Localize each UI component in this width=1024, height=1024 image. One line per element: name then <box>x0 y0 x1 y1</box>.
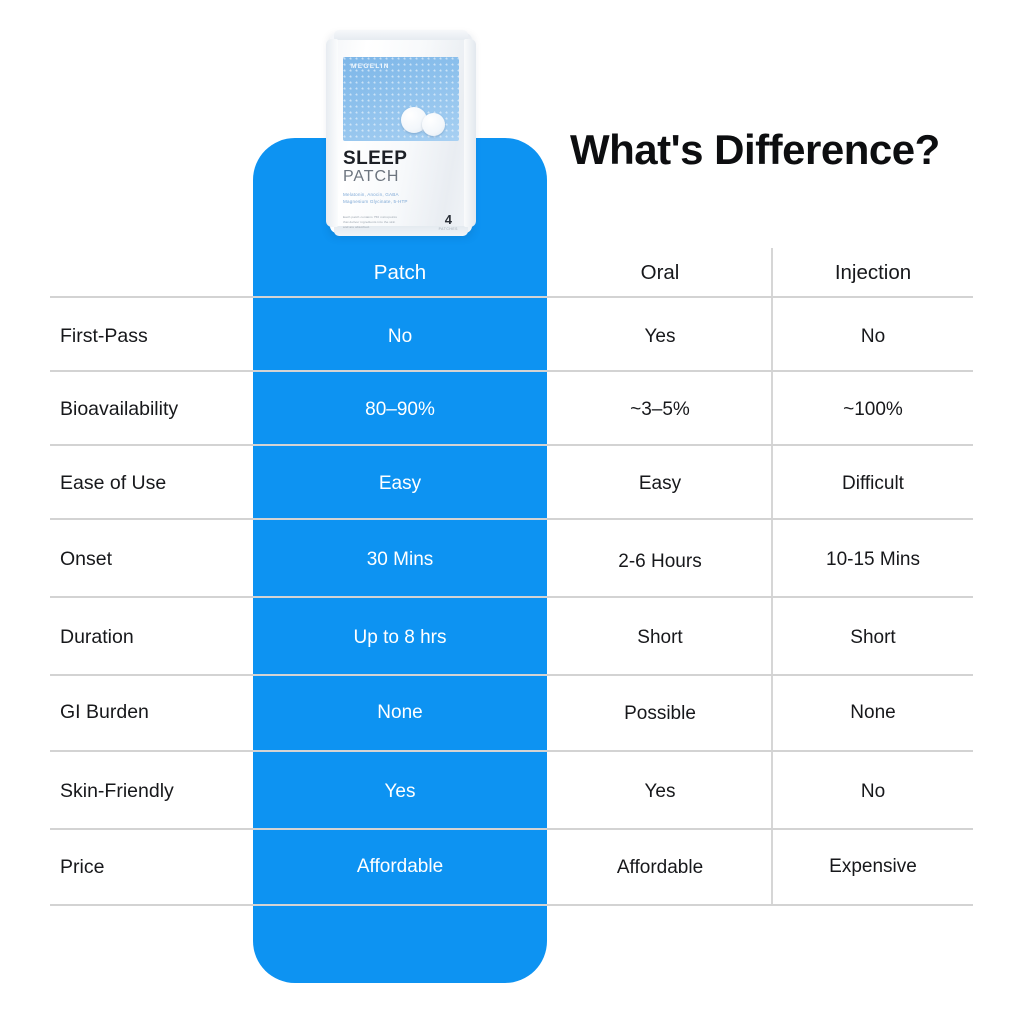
cell-oral: 2-6 Hours <box>549 552 771 571</box>
cell-oral: Yes <box>549 782 771 801</box>
cell-oral: ~3–5% <box>549 400 771 419</box>
package-count-badge: 4 PATCHES <box>439 213 458 231</box>
package-count-label: PATCHES <box>439 227 458 231</box>
row-label: Onset <box>60 550 250 570</box>
comparison-table: Patch Oral Injection First-Pass No Yes N… <box>0 0 1024 1024</box>
row-divider <box>50 370 973 372</box>
cell-injection: Difficult <box>773 474 973 493</box>
row-divider <box>50 674 973 676</box>
row-label: Bioavailability <box>60 400 250 420</box>
cell-oral: Short <box>549 628 771 647</box>
row-divider <box>50 296 973 298</box>
cell-injection: No <box>773 327 973 346</box>
row-divider <box>50 828 973 830</box>
cell-injection: ~100% <box>773 400 973 419</box>
package-window-graphic: MEGELIN <box>343 57 459 141</box>
package-product-subtitle: PATCH <box>343 169 399 185</box>
package-product-name: SLEEP <box>343 149 407 168</box>
cell-patch: None <box>253 703 547 722</box>
cell-injection: No <box>773 782 973 801</box>
package-seal-top <box>334 30 468 40</box>
row-label: Duration <box>60 628 250 648</box>
row-divider <box>50 596 973 598</box>
cell-oral: Affordable <box>549 858 771 877</box>
cell-injection: None <box>773 703 973 722</box>
cell-patch: Affordable <box>253 857 547 876</box>
package-brand-label: MEGELIN <box>351 63 390 70</box>
pill-icon-small <box>422 113 445 136</box>
cell-injection: 10-15 Mins <box>773 550 973 569</box>
column-divider-oral-injection <box>771 248 773 905</box>
column-header-injection: Injection <box>773 263 973 284</box>
cell-patch: Easy <box>253 474 547 493</box>
column-header-patch: Patch <box>253 263 547 284</box>
product-package-image: MEGELIN SLEEP PATCH Melatonin, Anocin, G… <box>330 33 472 233</box>
cell-patch: 30 Mins <box>253 550 547 569</box>
package-seal-right <box>464 39 476 227</box>
cell-injection: Expensive <box>773 857 973 876</box>
row-label: Price <box>60 858 250 878</box>
cell-injection: Short <box>773 628 973 647</box>
row-label: Ease of Use <box>60 474 250 494</box>
cell-patch: Yes <box>253 782 547 801</box>
row-divider <box>50 444 973 446</box>
cell-oral: Possible <box>549 704 771 723</box>
cell-oral: Yes <box>549 327 771 346</box>
package-seal-left <box>326 39 338 227</box>
package-fine-print: Each patch contains 750 micropoints that… <box>343 215 421 230</box>
row-divider <box>50 904 973 906</box>
cell-patch: 80–90% <box>253 400 547 419</box>
package-count-number: 4 <box>439 213 458 226</box>
cell-oral: Easy <box>549 474 771 493</box>
row-divider <box>50 518 973 520</box>
cell-patch: No <box>253 327 547 346</box>
row-label: First-Pass <box>60 327 250 347</box>
column-header-oral: Oral <box>549 263 771 284</box>
cell-patch: Up to 8 hrs <box>253 628 547 647</box>
row-label: Skin-Friendly <box>60 782 250 802</box>
row-label: GI Burden <box>60 703 250 723</box>
row-divider <box>50 750 973 752</box>
package-ingredients-text: Melatonin, Anocin, GABA Magnesium Glycin… <box>343 191 460 205</box>
